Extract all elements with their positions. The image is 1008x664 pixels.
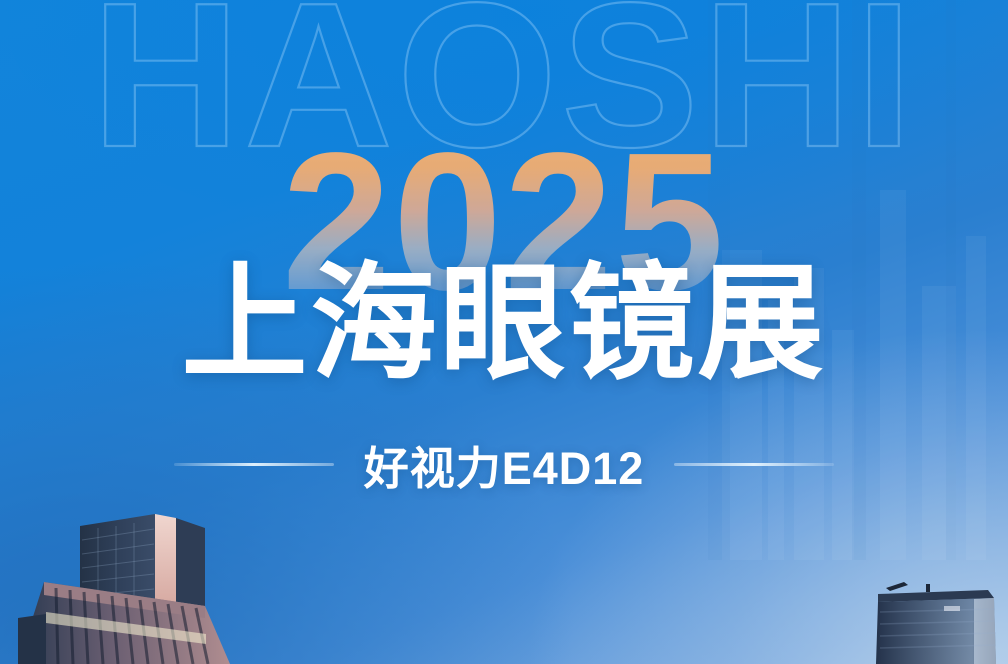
poster-title: 上海眼镜展 bbox=[0, 256, 1008, 392]
office-tower-right bbox=[838, 554, 1008, 664]
office-tower-left bbox=[0, 484, 420, 664]
divider-line-right bbox=[674, 463, 834, 466]
exhibition-poster: HAOSHI 2025 上海眼镜展 好视力E4D12 bbox=[0, 0, 1008, 664]
divider-line-left bbox=[174, 463, 334, 466]
